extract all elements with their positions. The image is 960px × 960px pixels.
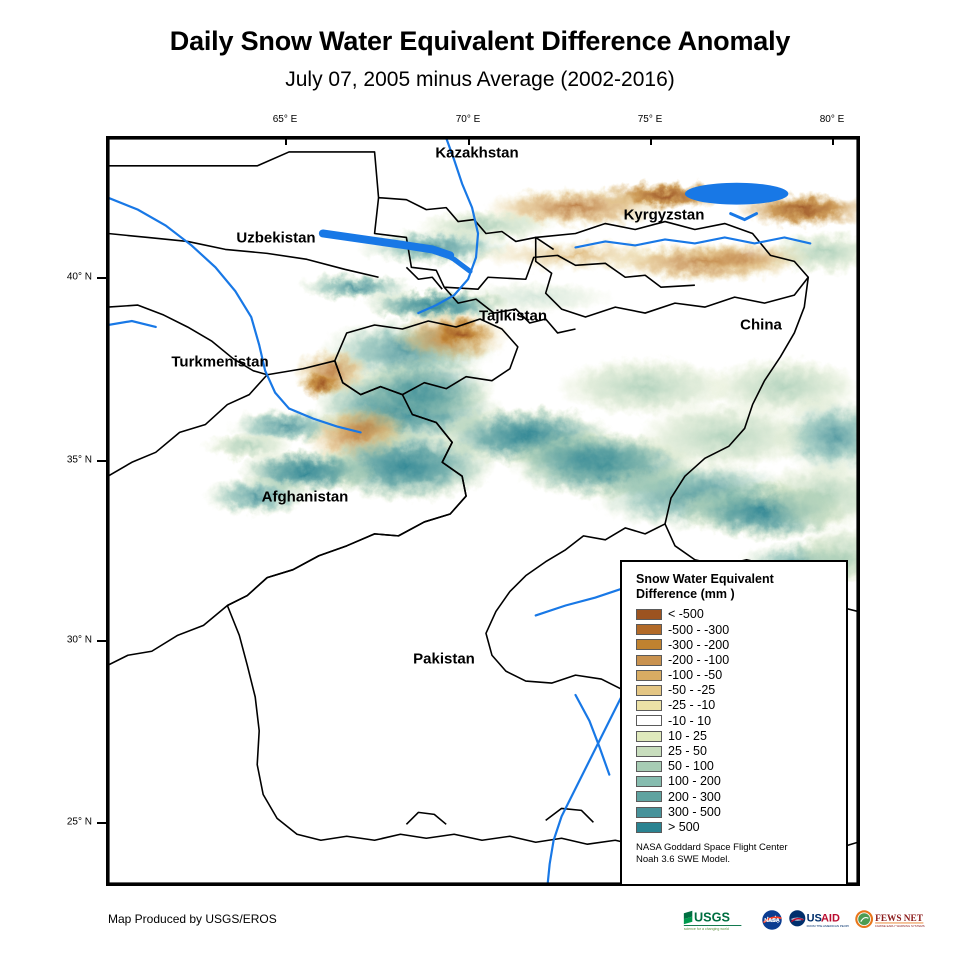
svg-text:US: US <box>806 913 821 925</box>
legend-row: 50 - 100 <box>636 759 846 774</box>
legend-row: 10 - 25 <box>636 729 846 744</box>
legend-title-line2: Difference (mm ) <box>636 587 735 601</box>
legend-items: < -500-500 - -300-300 - -200-200 - -100-… <box>636 607 846 835</box>
legend-label: 50 - 100 <box>668 760 714 773</box>
legend-row: > 500 <box>636 820 846 835</box>
legend-swatch <box>636 655 662 666</box>
legend-swatch <box>636 700 662 711</box>
legend-row: 300 - 500 <box>636 804 846 819</box>
legend-swatch <box>636 609 662 620</box>
lon-tick-65 <box>285 136 287 145</box>
lon-tick-70 <box>468 136 470 145</box>
nasa-logo: NASA <box>761 909 783 931</box>
legend-swatch <box>636 807 662 818</box>
legend-footer: NASA Goddard Space Flight Center Noah 3.… <box>636 842 846 866</box>
legend-footer-line2: Noah 3.6 SWE Model. <box>636 854 846 866</box>
svg-text:science for a changing world: science for a changing world <box>684 927 729 931</box>
legend-label: -25 - -10 <box>668 699 715 712</box>
legend-row: -50 - -25 <box>636 683 846 698</box>
legend-label: -300 - -200 <box>668 639 729 652</box>
lon-label-75: 75° E <box>638 114 663 125</box>
legend-label: < -500 <box>668 608 704 621</box>
svg-text:USGS: USGS <box>694 911 730 925</box>
fewsnet-logo: FEWS NET FAMINE EARLY WARNING SYSTEMS NE… <box>854 909 925 931</box>
legend-title-line1: Snow Water Equivalent <box>636 572 774 586</box>
usgs-logo: USGS science for a changing world <box>683 909 756 931</box>
lon-label-80: 80° E <box>820 114 845 125</box>
lat-tick-40 <box>97 277 106 279</box>
legend-swatch <box>636 715 662 726</box>
legend-footer-line1: NASA Goddard Space Flight Center <box>636 842 846 854</box>
legend-swatch <box>636 624 662 635</box>
lon-label-65: 65° E <box>273 114 298 125</box>
legend-label: 200 - 300 <box>668 791 721 804</box>
legend-row: -100 - -50 <box>636 668 846 683</box>
legend-label: -200 - -100 <box>668 654 729 667</box>
legend-swatch <box>636 822 662 833</box>
legend-label: 25 - 50 <box>668 745 707 758</box>
lon-tick-75 <box>650 136 652 145</box>
lon-label-70: 70° E <box>456 114 481 125</box>
svg-text:FROM THE AMERICAN PEOPLE: FROM THE AMERICAN PEOPLE <box>806 924 848 928</box>
legend-swatch <box>636 761 662 772</box>
lat-label-30: 30° N <box>67 635 92 646</box>
legend-row: -10 - 10 <box>636 713 846 728</box>
lat-label-25: 25° N <box>67 817 92 828</box>
page-title: Daily Snow Water Equivalent Difference A… <box>0 26 960 57</box>
lon-tick-80 <box>832 136 834 145</box>
lat-label-35: 35° N <box>67 455 92 466</box>
legend-row: < -500 <box>636 607 846 622</box>
legend-swatch <box>636 639 662 650</box>
legend-row: 25 - 50 <box>636 744 846 759</box>
legend-label: -50 - -25 <box>668 684 715 697</box>
legend-swatch <box>636 670 662 681</box>
legend-row: -300 - -200 <box>636 637 846 652</box>
agency-logos: USGS science for a changing world NASA U… <box>683 909 925 931</box>
legend-row: 100 - 200 <box>636 774 846 789</box>
legend-swatch <box>636 731 662 742</box>
legend-swatch <box>636 746 662 757</box>
legend-label: -100 - -50 <box>668 669 722 682</box>
legend-row: -200 - -100 <box>636 653 846 668</box>
legend-label: 300 - 500 <box>668 806 721 819</box>
legend-label: -500 - -300 <box>668 624 729 637</box>
legend-row: -500 - -300 <box>636 622 846 637</box>
svg-text:AID: AID <box>821 913 840 925</box>
map-legend: Snow Water Equivalent Difference (mm ) <… <box>620 560 848 886</box>
legend-title: Snow Water Equivalent Difference (mm ) <box>636 572 826 602</box>
svg-text:NASA: NASA <box>764 918 780 924</box>
map-credit: Map Produced by USGS/EROS <box>108 912 277 926</box>
lat-tick-30 <box>97 640 106 642</box>
lat-tick-35 <box>97 460 106 462</box>
legend-swatch <box>636 776 662 787</box>
legend-row: 200 - 300 <box>636 789 846 804</box>
legend-row: -25 - -10 <box>636 698 846 713</box>
legend-label: 10 - 25 <box>668 730 707 743</box>
svg-text:FEWS NET: FEWS NET <box>875 914 924 924</box>
lat-label-40: 40° N <box>67 272 92 283</box>
legend-label: -10 - 10 <box>668 715 711 728</box>
svg-text:FAMINE EARLY WARNING SYSTEMS N: FAMINE EARLY WARNING SYSTEMS NETWORK <box>875 924 925 928</box>
usaid-logo: US AID FROM THE AMERICAN PEOPLE <box>788 909 849 931</box>
legend-swatch <box>636 685 662 696</box>
legend-swatch <box>636 791 662 802</box>
lat-tick-25 <box>97 822 106 824</box>
page-subtitle: July 07, 2005 minus Average (2002-2016) <box>0 68 960 92</box>
legend-label: 100 - 200 <box>668 775 721 788</box>
legend-label: > 500 <box>668 821 700 834</box>
